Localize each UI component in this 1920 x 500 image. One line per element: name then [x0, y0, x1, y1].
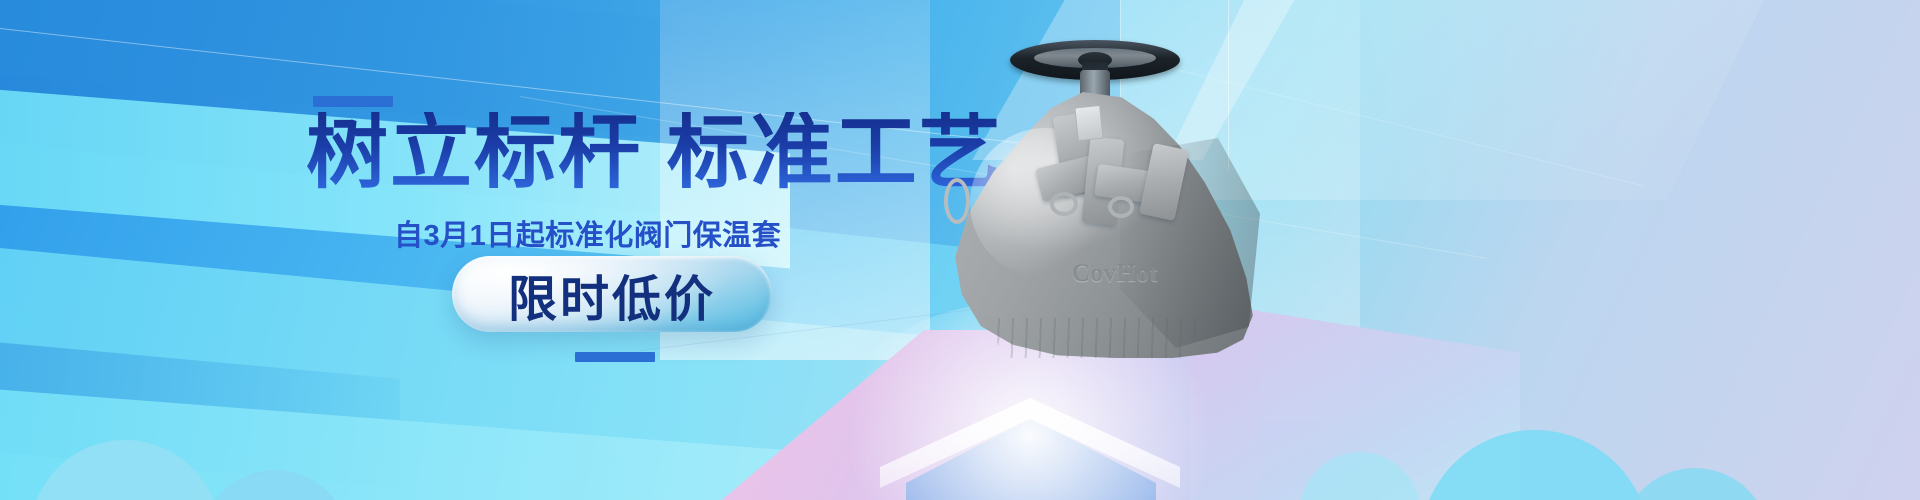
cta-underline-bar: [575, 352, 655, 362]
banner-title: 树立标杆 标准工艺: [306, 112, 1003, 194]
title-accent-bar: [313, 96, 393, 107]
jacket-d-ring-left: [944, 178, 970, 224]
promo-banner: 树立标杆 标准工艺 自3月1日起标准化阀门保温套 限时低价 CovHot: [0, 0, 1920, 500]
decor-circle-4: [1620, 468, 1770, 500]
product-valve-insulation-jacket: CovHot: [930, 18, 1290, 368]
cta-pill-label[interactable]: 限时低价: [500, 266, 724, 324]
jacket-d-ring-1: [1050, 192, 1078, 216]
jacket-d-ring-2: [1108, 196, 1134, 218]
banner-subtitle: 自3月1日起标准化阀门保温套: [394, 212, 781, 254]
jacket-spec-tag: [1074, 105, 1103, 142]
